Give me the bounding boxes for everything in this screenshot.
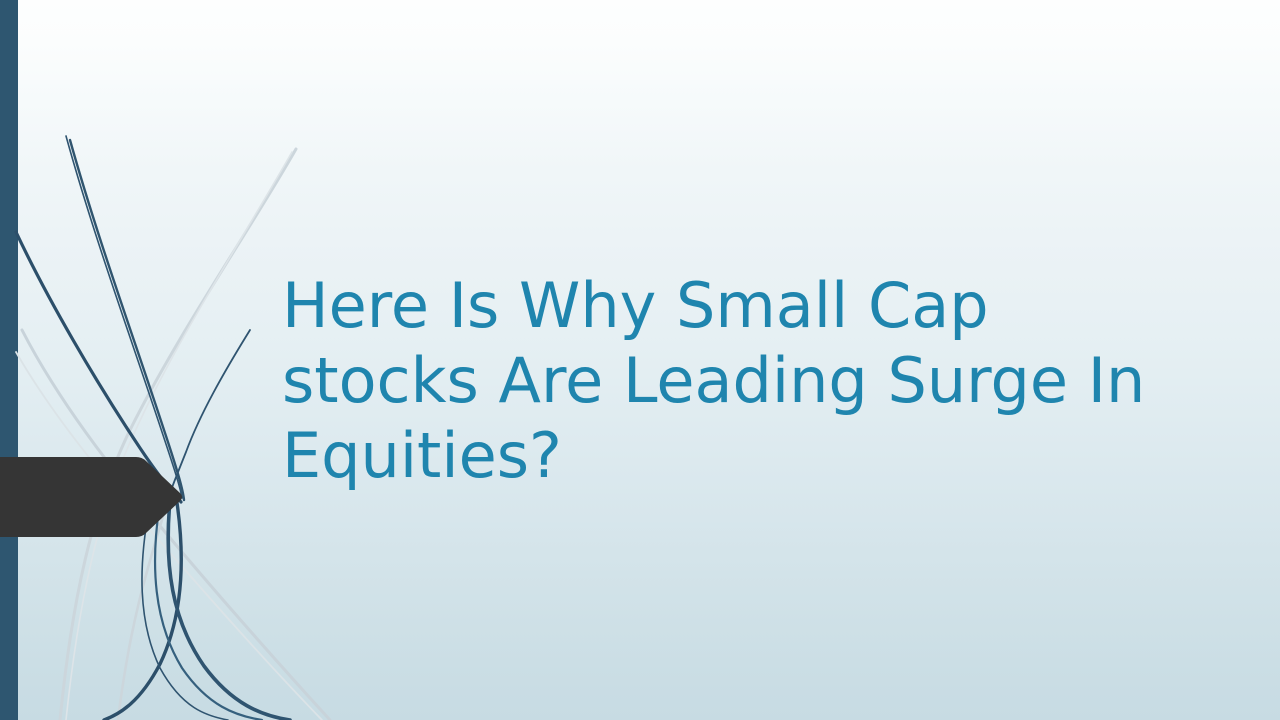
title-block: Here Is Why Small Cap stocks Are Leading… <box>282 268 1202 493</box>
left-accent-bar <box>0 0 18 720</box>
chevron-banner <box>0 455 183 538</box>
page-title: Here Is Why Small Cap stocks Are Leading… <box>282 268 1202 493</box>
title-slide: Here Is Why Small Cap stocks Are Leading… <box>0 0 1280 720</box>
